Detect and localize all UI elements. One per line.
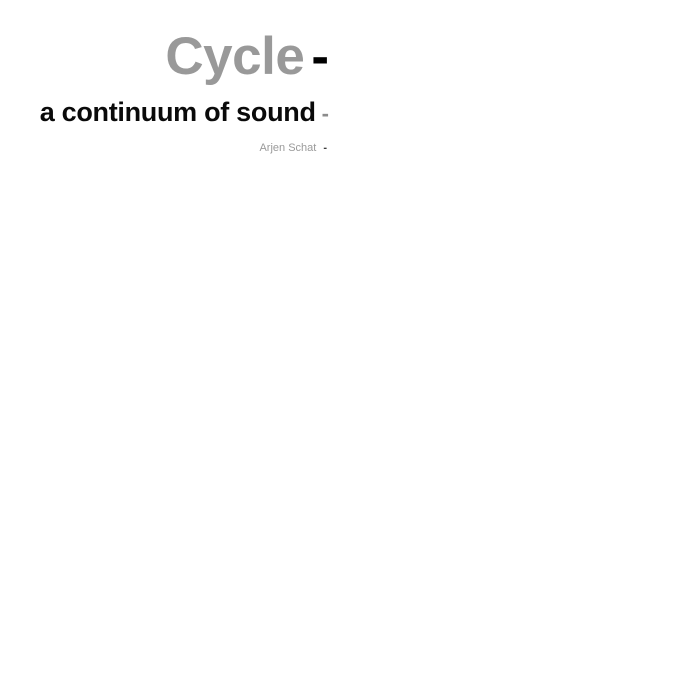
subtitle-dash: -	[322, 101, 329, 126]
document-page: Cycle- a continuum of sound- Arjen Schat…	[0, 0, 700, 700]
page-subtitle: a continuum of sound	[40, 97, 316, 127]
page-title: Cycle	[165, 27, 304, 86]
title-dash: -	[311, 27, 329, 86]
title-line: Cycle-	[0, 30, 329, 83]
author-line: Arjen Schat-	[0, 139, 329, 155]
author-name: Arjen Schat	[259, 142, 316, 154]
empty-content-area	[0, 160, 700, 700]
subtitle-line: a continuum of sound-	[0, 99, 329, 126]
title-block: Cycle- a continuum of sound- Arjen Schat…	[0, 30, 329, 155]
author-dash: -	[323, 142, 327, 154]
